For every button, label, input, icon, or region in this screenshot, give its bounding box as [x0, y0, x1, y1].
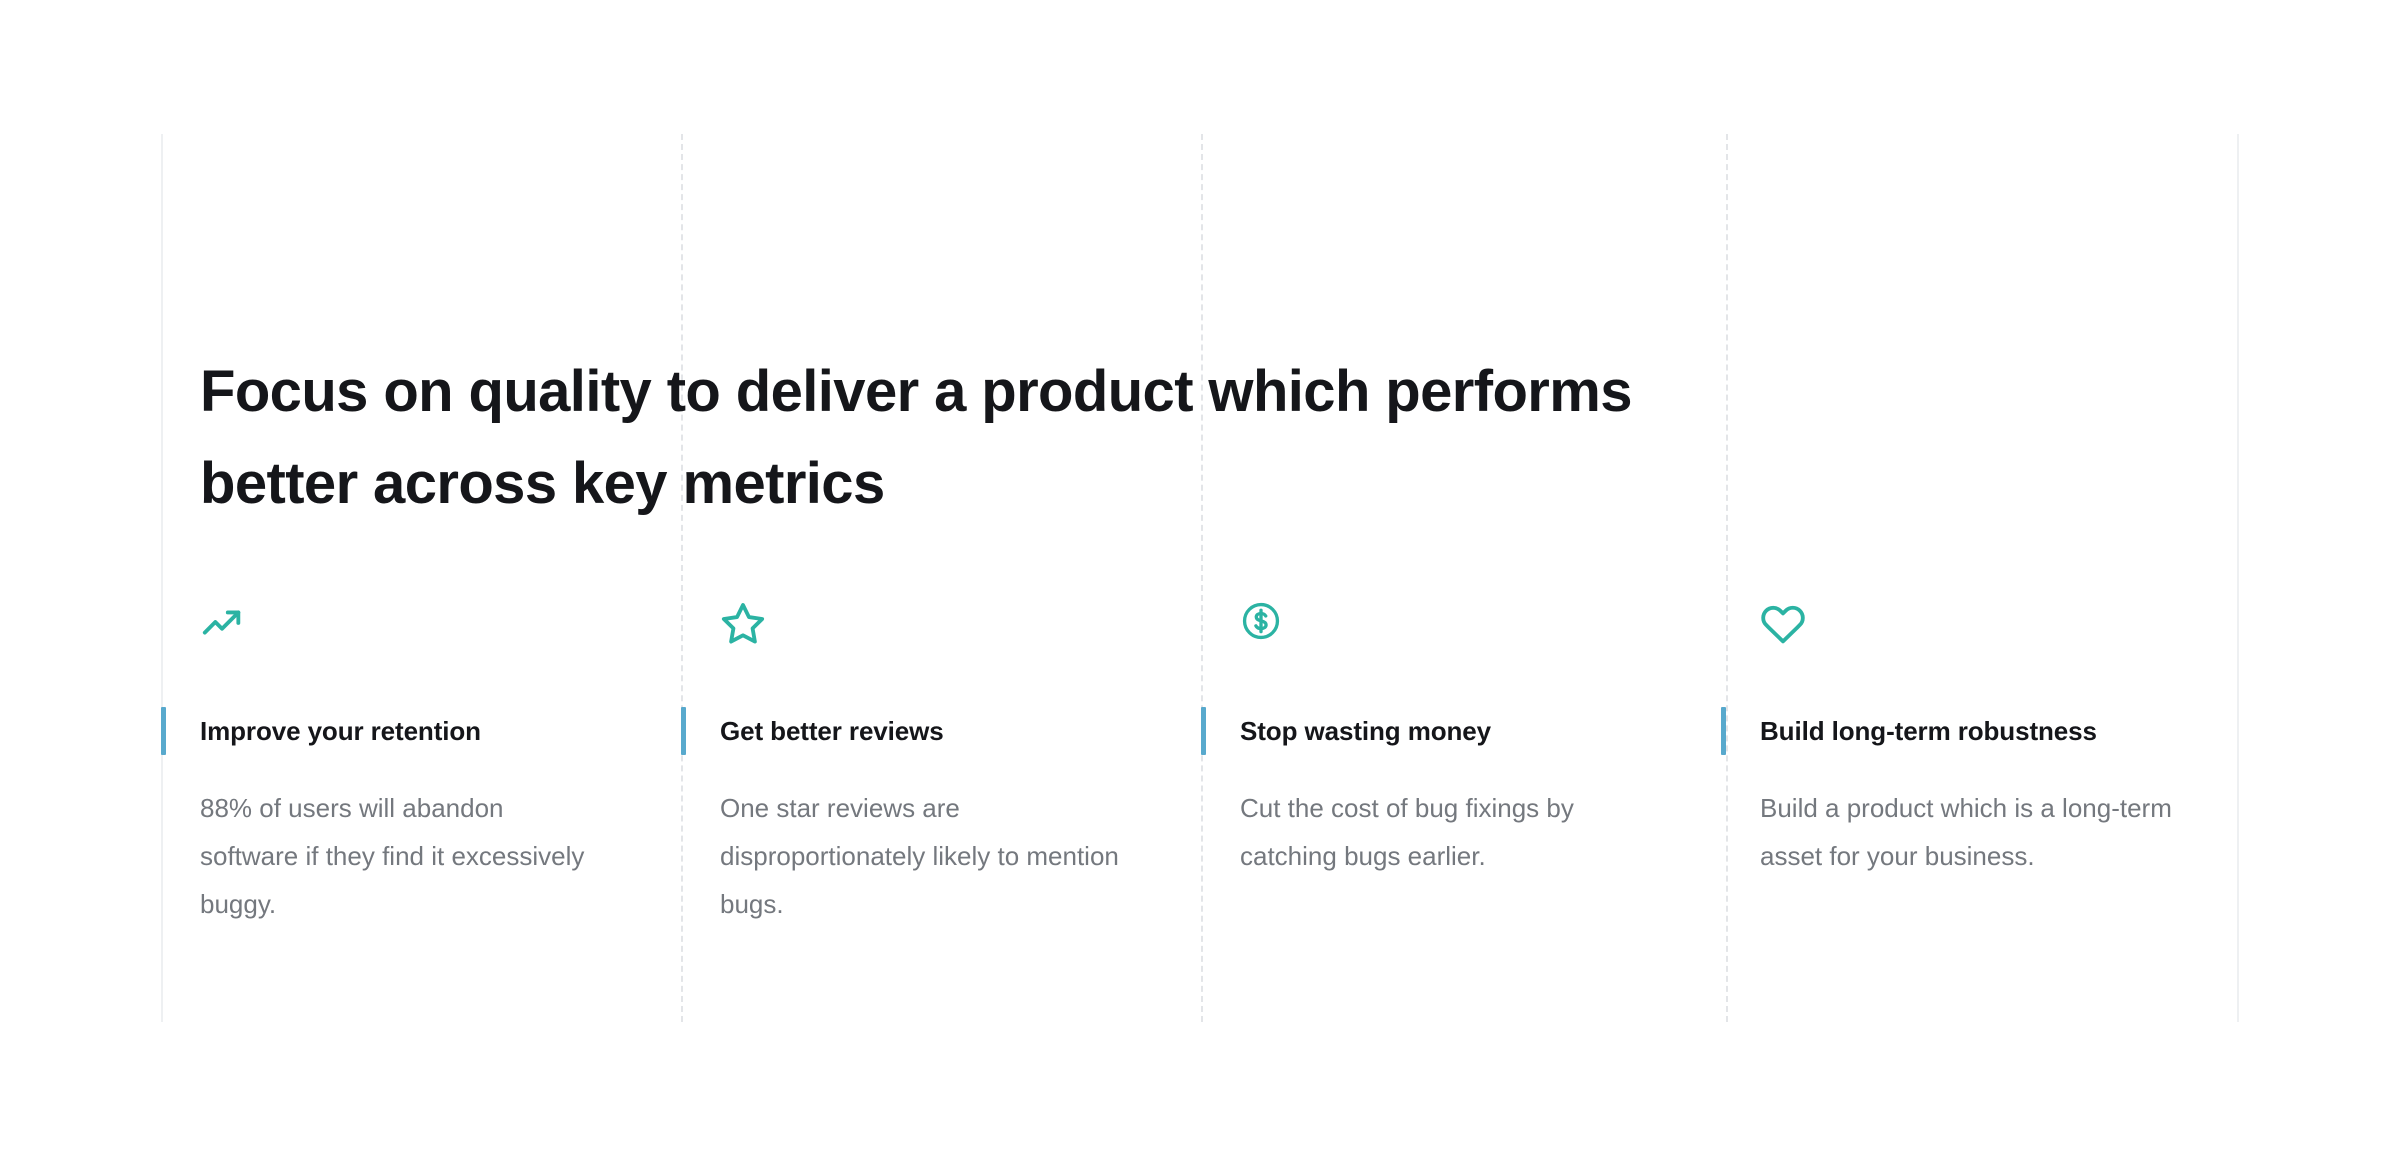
feature-column-retention: Improve your retention 88% of users will…	[161, 600, 681, 928]
accent-bar	[1201, 707, 1206, 755]
feature-body: 88% of users will abandon software if th…	[200, 784, 600, 928]
feature-section: Focus on quality to deliver a product wh…	[0, 0, 2400, 1168]
feature-heading: Get better reviews	[720, 714, 944, 748]
accent-bar	[681, 707, 686, 755]
accent-bar	[1721, 707, 1726, 755]
star-icon	[720, 600, 1161, 658]
feature-body: Build a product which is a long-term ass…	[1760, 784, 2192, 880]
feature-column-reviews: Get better reviews One star reviews are …	[681, 600, 1201, 928]
feature-body: Cut the cost of bug fixings by catching …	[1240, 784, 1640, 880]
feature-column-list: Improve your retention 88% of users will…	[161, 600, 2237, 928]
heart-icon	[1760, 600, 2192, 658]
accent-bar	[161, 707, 166, 755]
feature-heading: Improve your retention	[200, 714, 481, 748]
feature-heading-row: Stop wasting money	[1240, 714, 1681, 748]
dollar-circle-icon	[1240, 600, 1681, 658]
trending-up-icon	[200, 600, 641, 658]
feature-heading: Stop wasting money	[1240, 714, 1491, 748]
feature-column-money: Stop wasting money Cut the cost of bug f…	[1201, 600, 1721, 928]
feature-body: One star reviews are disproportionately …	[720, 784, 1120, 928]
feature-heading-row: Get better reviews	[720, 714, 1161, 748]
feature-column-robustness: Build long-term robustness Build a produ…	[1721, 600, 2232, 928]
feature-heading-row: Improve your retention	[200, 714, 641, 748]
grid-rule-right	[2237, 134, 2239, 1022]
section-headline: Focus on quality to deliver a product wh…	[200, 346, 1700, 530]
feature-heading-row: Build long-term robustness	[1760, 714, 2192, 748]
feature-heading: Build long-term robustness	[1760, 714, 2097, 748]
